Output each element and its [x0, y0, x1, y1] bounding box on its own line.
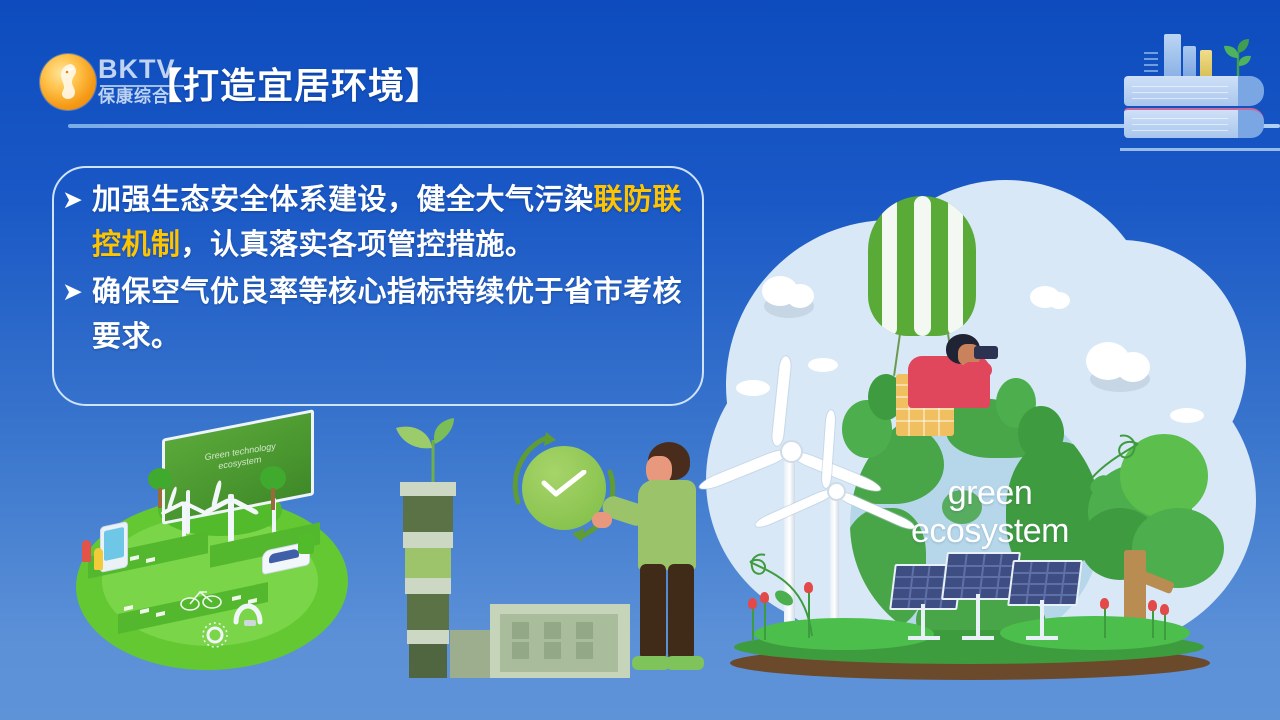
sprout-leaf-icon — [394, 418, 472, 484]
globe-label: green ecosystem — [900, 475, 1080, 549]
cloud-icon — [1170, 408, 1204, 423]
header-divider — [68, 124, 1280, 128]
smartphone-icon — [100, 521, 128, 573]
sprout-leaf-icon — [1216, 32, 1262, 80]
charging-station-icon — [298, 534, 314, 554]
list-item: ➤ 加强生态安全体系建设，健全大气污染联防联控机制，认真落实各项管控措施。 — [58, 178, 698, 268]
list-item: ➤ 确保空气优良率等核心指标持续优于省市考核要求。 — [58, 270, 698, 360]
bullet-text: 加强生态安全体系建设，健全大气污染联防联控机制，认真落实各项管控措施。 — [92, 178, 698, 268]
recycle-arrows-icon — [500, 424, 628, 552]
cloud-icon — [736, 380, 770, 396]
bullet-segment: ，认真落实各项管控措施。 — [181, 229, 535, 261]
factory-chimney-icon — [400, 482, 456, 678]
cloud-icon — [808, 358, 838, 372]
city-buildings-icon — [1164, 34, 1181, 78]
slide-canvas: BKTV 保康综合 【打造宜居环境】 ➤ — [0, 0, 1280, 720]
globe-label-line1: green — [948, 474, 1032, 512]
bullet-segment: 加强生态安全体系建设，健全大气污染 — [92, 184, 594, 216]
phoenix-bird-icon — [54, 62, 82, 100]
gear-icon — [202, 622, 228, 648]
pedestrian-icon — [82, 540, 91, 562]
bullet-segment: 确保空气优良率等核心指标持续优于省市考核要求。 — [92, 276, 682, 353]
eco-scene-illustration: green ecosystem — [700, 178, 1280, 698]
factory-scene-illustration — [388, 408, 708, 686]
vine-swirl-icon — [1056, 422, 1166, 542]
island-scene-illustration: Green technology ecosystem — [62, 406, 362, 686]
vine-swirl-icon — [736, 528, 826, 638]
bullet-list: ➤ 加强生态安全体系建设，健全大气污染联防联控机制，认真落实各项管控措施。 ➤ … — [58, 178, 698, 362]
factory-building-icon — [450, 630, 494, 678]
stacked-books-icon — [1120, 18, 1280, 130]
bicycle-icon — [180, 584, 224, 614]
page-title: 【打造宜居环境】 — [146, 57, 442, 109]
energy-saving-bulb-icon — [230, 598, 270, 628]
books-baseline — [1120, 148, 1280, 151]
bullet-arrow-icon: ➤ — [58, 270, 92, 315]
pedestrian-icon — [94, 548, 103, 570]
bullet-arrow-icon: ➤ — [58, 178, 92, 223]
bullet-text: 确保空气优良率等核心指标持续优于省市考核要求。 — [92, 270, 698, 360]
globe-label-line2: ecosystem — [900, 513, 1080, 549]
